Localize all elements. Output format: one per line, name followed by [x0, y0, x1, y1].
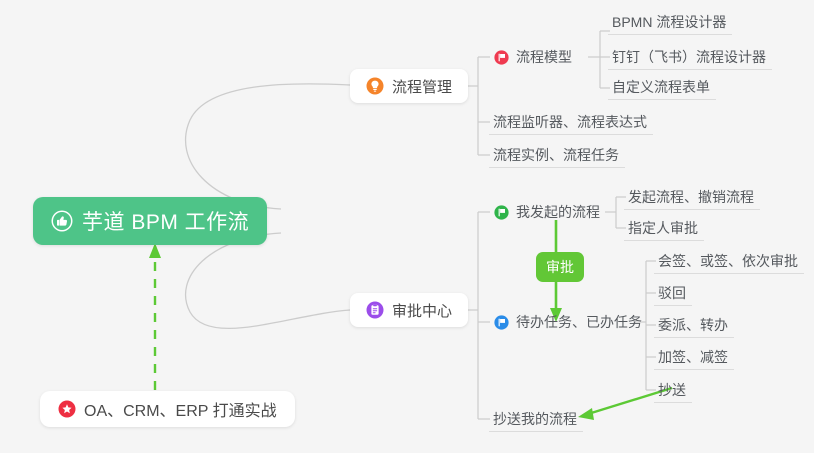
leaf-assignee-approve[interactable]: 指定人审批: [624, 215, 704, 241]
label-add-remove-sign: 加签、减签: [658, 347, 728, 367]
thumbs-up-icon: [51, 210, 73, 232]
branch-node-approval-center[interactable]: 审批中心: [350, 293, 468, 327]
arrow-footnote-to-root-head: [149, 243, 161, 258]
node-process-model[interactable]: 流程模型: [490, 44, 578, 70]
label-countersign: 会签、或签、依次审批: [658, 251, 798, 271]
leaf-dingtalk-feishu-designer[interactable]: 钉钉（飞书）流程设计器: [608, 44, 772, 70]
leaf-listener-expression[interactable]: 流程监听器、流程表达式: [489, 109, 653, 135]
annotation-approve-label: 审批: [546, 257, 574, 277]
leaf-start-cancel[interactable]: 发起流程、撤销流程: [624, 184, 760, 210]
label-delegate-transfer: 委派、转办: [658, 315, 728, 335]
label-start-cancel: 发起流程、撤销流程: [628, 187, 754, 207]
mindmap-canvas: 芋道 BPM 工作流 OA、CRM、ERP 打通实战 流程管理: [0, 0, 814, 453]
clipboard-icon: [366, 301, 384, 319]
footnote-node[interactable]: OA、CRM、ERP 打通实战: [40, 391, 295, 427]
star-icon: [58, 400, 76, 418]
label-instance-task: 流程实例、流程任务: [493, 145, 619, 165]
label-todo-done: 待办任务、已办任务: [516, 312, 642, 332]
label-custom-process-form: 自定义流程表单: [612, 77, 710, 97]
node-todo-done[interactable]: 待办任务、已办任务: [490, 309, 648, 335]
root-node[interactable]: 芋道 BPM 工作流: [33, 197, 267, 245]
label-bpmn-designer: BPMN 流程设计器: [612, 12, 726, 32]
root-label: 芋道 BPM 工作流: [82, 206, 249, 236]
leaf-cc-to-me[interactable]: 抄送我的流程: [489, 406, 583, 432]
branch-label-process-management: 流程管理: [392, 76, 452, 97]
node-my-initiated[interactable]: 我发起的流程: [490, 199, 606, 225]
label-reject: 驳回: [658, 283, 686, 303]
link-root-to-approval-center: [186, 233, 350, 328]
label-process-model: 流程模型: [516, 47, 572, 67]
leaf-cc[interactable]: 抄送: [654, 377, 692, 403]
label-assignee-approve: 指定人审批: [628, 218, 698, 238]
label-cc: 抄送: [658, 380, 686, 400]
leaf-bpmn-designer[interactable]: BPMN 流程设计器: [608, 9, 732, 35]
flag-green-icon: [494, 205, 509, 220]
link-root-to-process-management: [186, 84, 350, 209]
lightbulb-icon: [366, 77, 384, 95]
leaf-reject[interactable]: 驳回: [654, 280, 692, 306]
label-dingtalk-feishu-designer: 钉钉（飞书）流程设计器: [612, 47, 766, 67]
label-my-initiated: 我发起的流程: [516, 202, 600, 222]
leaf-delegate-transfer[interactable]: 委派、转办: [654, 312, 734, 338]
branch-node-process-management[interactable]: 流程管理: [350, 69, 468, 103]
leaf-instance-task[interactable]: 流程实例、流程任务: [489, 142, 625, 168]
leaf-custom-process-form[interactable]: 自定义流程表单: [608, 74, 716, 100]
flag-blue-icon: [494, 315, 509, 330]
flag-red-icon: [494, 50, 509, 65]
footnote-label: OA、CRM、ERP 打通实战: [84, 397, 277, 421]
annotation-approve-chip[interactable]: 审批: [536, 252, 584, 282]
leaf-add-remove-sign[interactable]: 加签、减签: [654, 344, 734, 370]
leaf-countersign[interactable]: 会签、或签、依次审批: [654, 248, 804, 274]
label-cc-to-me: 抄送我的流程: [493, 409, 577, 429]
branch-label-approval-center: 审批中心: [392, 300, 452, 321]
label-listener-expression: 流程监听器、流程表达式: [493, 112, 647, 132]
